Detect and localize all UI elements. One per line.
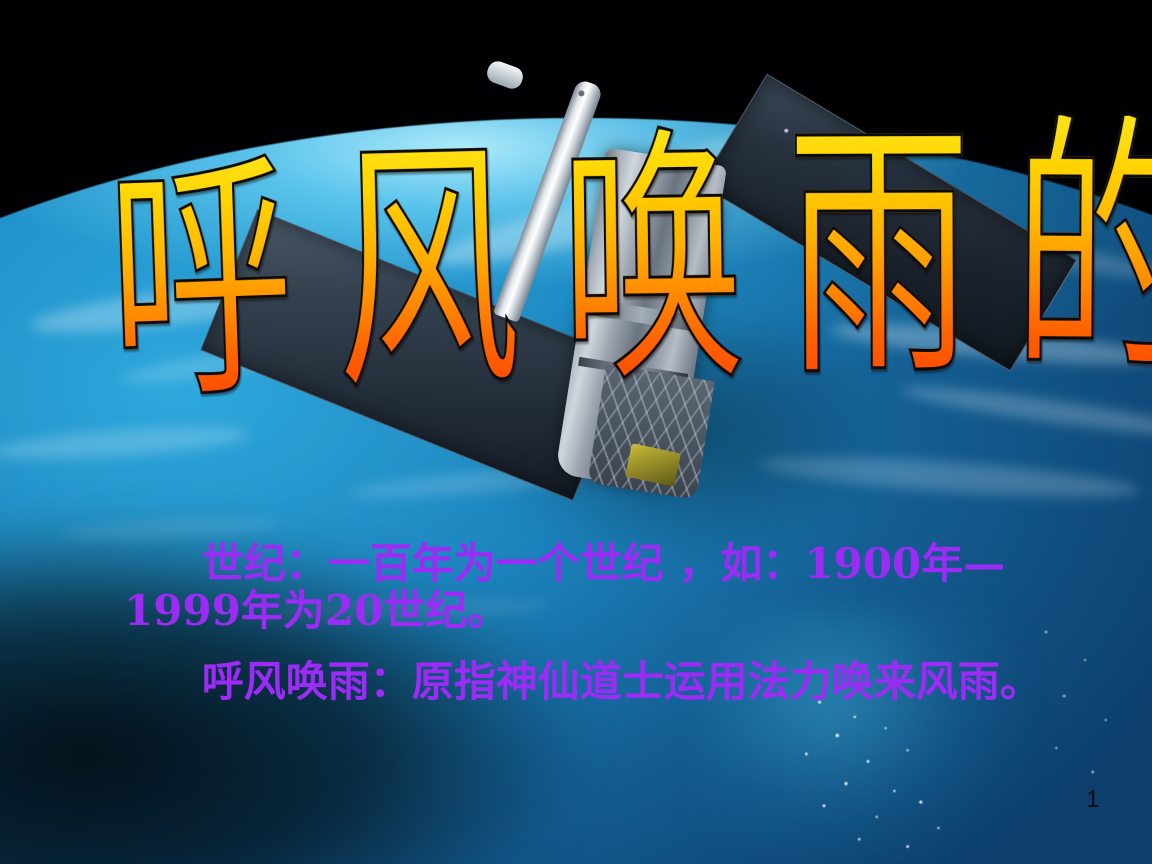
paragraph-text: 世纪：一百年为一个世纪 ，如：1900年—1999年为20世纪。 (124, 539, 1005, 635)
title-character: 雨 (786, 119, 972, 390)
slide-body-textbox: 世纪：一百年为一个世纪 ，如：1900年—1999年为20世纪。 呼风唤雨：原指… (124, 540, 1092, 719)
presentation-slide: 呼 风 唤 雨 的 世 纪 世纪：一百年为一个世纪 ，如：1900年—1999年… (0, 0, 1152, 864)
title-character: 唤 (559, 129, 748, 397)
paragraph-century-definition: 世纪：一百年为一个世纪 ，如：1900年—1999年为20世纪。 (124, 540, 1092, 634)
paragraph-text: 呼风唤雨：原指神仙道士运用法力唤来风雨。 (202, 657, 1042, 706)
title-character: 的 (1011, 115, 1152, 386)
title-character: 呼 (104, 151, 298, 414)
title-character: 风 (331, 138, 523, 404)
slide-number: 1 (1086, 786, 1120, 814)
slide-title-wordart: 呼 风 唤 雨 的 世 纪 (88, 138, 1028, 513)
paragraph-idiom-definition: 呼风唤雨：原指神仙道士运用法力唤来风雨。 (124, 658, 1092, 705)
antenna-boom-cap (484, 59, 525, 92)
